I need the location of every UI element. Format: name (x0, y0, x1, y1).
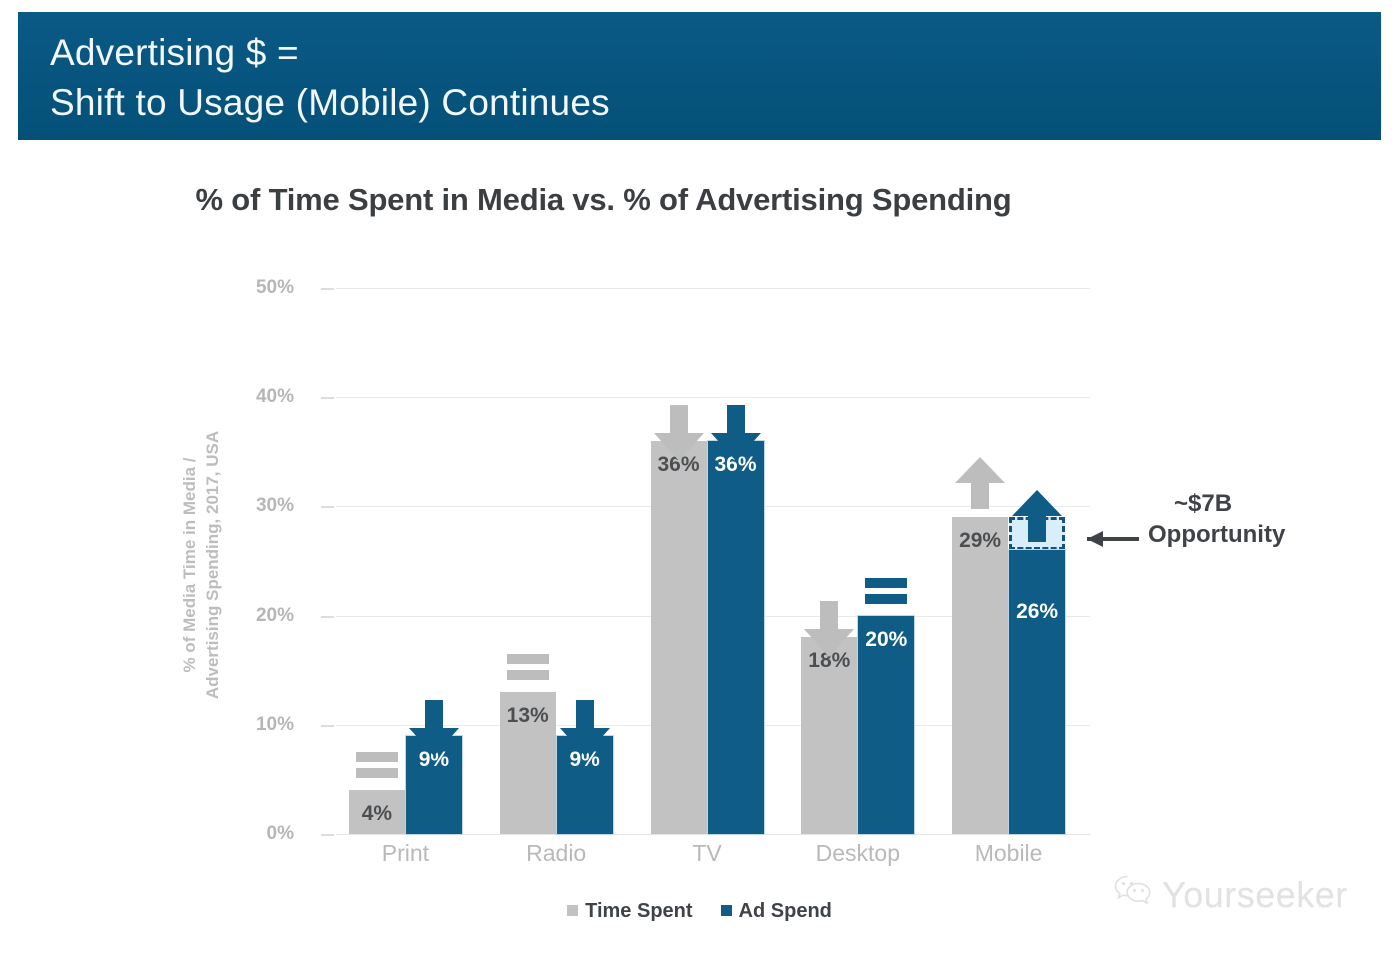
y-axis-title-line-2: Advertising Spending, 2017, USA (201, 335, 224, 795)
x-category-label-mobile: Mobile (929, 840, 1089, 867)
banner-title-line-2: Shift to Usage (Mobile) Continues (50, 78, 1381, 128)
x-category-label-radio: Radio (476, 840, 636, 867)
x-category-label-tv: TV (627, 840, 787, 867)
bar-value-label: 29% (952, 529, 1008, 553)
y-tick-mark (321, 616, 334, 618)
indicator-up-icon (953, 455, 1007, 511)
y-tick-label: 30% (224, 495, 294, 517)
indicator-up-icon (1010, 488, 1064, 544)
legend-label: Ad Spend (739, 900, 832, 922)
y-tick-mark (321, 834, 334, 836)
indicator-down-icon (709, 403, 763, 463)
watermark: Yourseeker (1113, 873, 1348, 916)
chart-title-text: % of Time Spent in Media vs. % of Advert… (196, 182, 1012, 218)
bar-desktop-ad-spend: 20% (858, 616, 914, 834)
bar-desktop-time-spent: 18% (801, 637, 857, 834)
chart-title: % of Time Spent in Media vs. % of Advert… (0, 182, 1399, 218)
bar-print-time-spent: 4% (349, 790, 405, 834)
indicator-equals-icon (354, 748, 400, 782)
bar-value-label: 4% (349, 802, 405, 826)
x-category-label-desktop: Desktop (778, 840, 938, 867)
y-tick-label: 10% (224, 714, 294, 736)
y-tick-label: 20% (224, 605, 294, 627)
gridline (336, 834, 1090, 835)
legend-item-time-spent[interactable]: Time Spent (567, 900, 692, 923)
bar-radio-time-spent: 13% (500, 692, 556, 834)
banner-title-line-1: Advertising $ = (50, 28, 1381, 78)
legend-swatch (721, 905, 732, 916)
y-axis-title: % of Media Time in Media / Advertising S… (178, 335, 218, 795)
wechat-icon (1113, 873, 1153, 916)
y-tick-mark (321, 288, 334, 290)
y-tick-mark (321, 397, 334, 399)
title-banner: Advertising $ = Shift to Usage (Mobile) … (18, 12, 1381, 140)
legend-label: Time Spent (585, 900, 692, 922)
gridline (336, 397, 1090, 398)
y-tick-label: 50% (224, 277, 294, 299)
y-axis-title-line-1: % of Media Time in Media / (178, 335, 201, 795)
indicator-down-icon (558, 698, 612, 758)
y-tick-mark (321, 725, 334, 727)
bar-mobile-time-spent: 29% (952, 517, 1008, 834)
y-tick-label: 40% (224, 386, 294, 408)
opportunity-amount: ~$7B (1148, 488, 1378, 519)
gridline (336, 288, 1090, 289)
bar-tv-ad-spend: 36% (708, 441, 764, 834)
legend-item-ad-spend[interactable]: Ad Spend (721, 900, 832, 923)
opportunity-arrow-icon (1085, 529, 1141, 554)
plot-area: 4%9%13%9%36%36%18%20%29%26% (336, 288, 1090, 834)
bar-value-label: 26% (1009, 600, 1065, 624)
y-tick-label: 0% (224, 823, 294, 845)
indicator-down-icon (407, 698, 461, 758)
bar-value-label: 20% (858, 628, 914, 652)
y-tick-mark (321, 506, 334, 508)
x-category-label-print: Print (325, 840, 485, 867)
opportunity-annotation: ~$7B Opportunity (1148, 488, 1378, 550)
legend-swatch (567, 905, 578, 916)
watermark-text: Yourseeker (1162, 874, 1348, 916)
bar-mobile-ad-spend: 26% (1009, 550, 1065, 834)
bar-value-label: 13% (500, 704, 556, 728)
indicator-equals-icon (505, 650, 551, 684)
indicator-equals-icon (863, 574, 909, 608)
indicator-down-icon (802, 599, 856, 659)
indicator-down-icon (652, 403, 706, 463)
opportunity-label: Opportunity (1148, 519, 1378, 550)
chart-container: % of Time Spent in Media vs. % of Advert… (0, 140, 1399, 960)
bar-tv-time-spent: 36% (651, 441, 707, 834)
